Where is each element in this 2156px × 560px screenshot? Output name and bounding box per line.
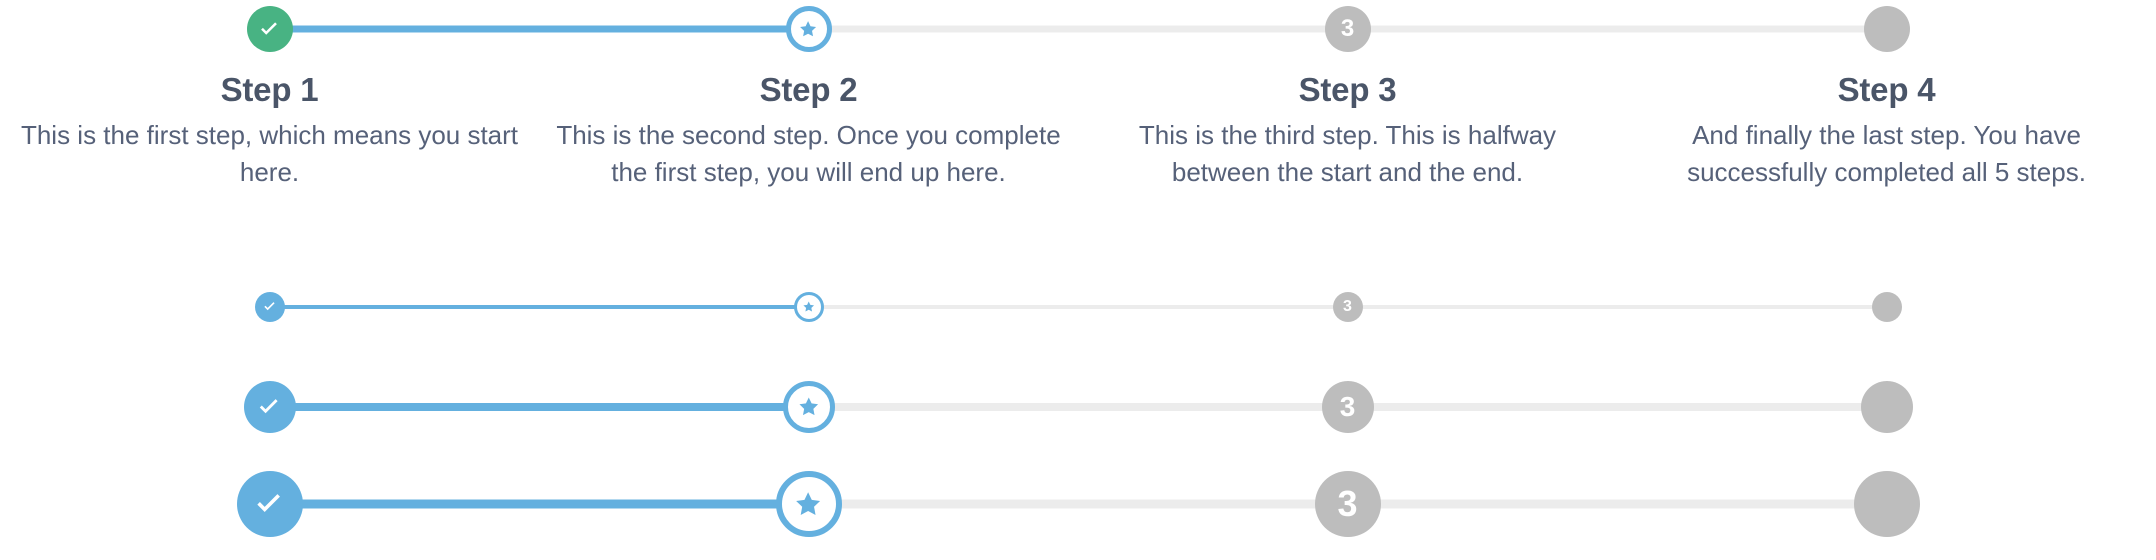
connector-right: [270, 305, 540, 309]
step-2[interactable]: Step 2 This is the second step. Once you…: [539, 0, 1078, 191]
labelled-stepper: Step 1 This is the first step, which mea…: [0, 0, 2156, 191]
step-3-marker-row: 3: [1078, 290, 1617, 324]
step-3-title: Step 3: [1092, 71, 1603, 109]
connector-right: [1887, 500, 2156, 509]
step-2-description: This is the second step. Once you comple…: [553, 117, 1064, 191]
connector-right: [1348, 403, 1618, 411]
check-icon[interactable]: [255, 292, 285, 322]
connector-right: [270, 26, 540, 33]
step-3[interactable]: 3: [1078, 378, 1617, 436]
step-2[interactable]: [539, 290, 1078, 324]
step-1[interactable]: [0, 290, 539, 324]
step-3-number: 3: [1340, 393, 1356, 421]
connector-right: [809, 403, 1079, 411]
empty-circle-icon[interactable]: [1864, 6, 1910, 52]
empty-circle-icon[interactable]: [1861, 381, 1913, 433]
step-4[interactable]: [1617, 468, 2156, 540]
star-icon[interactable]: [783, 381, 835, 433]
connector-right: [809, 305, 1079, 309]
step-2-labels: Step 2 This is the second step. Once you…: [539, 58, 1078, 191]
connector-right: [1887, 403, 2156, 411]
step-4-marker-row: [1617, 468, 2156, 540]
star-icon[interactable]: [794, 292, 824, 322]
step-3[interactable]: 3 Step 3 This is the third step. This is…: [1078, 0, 1617, 191]
empty-circle-icon[interactable]: [1872, 292, 1902, 322]
connector-right: [1348, 500, 1618, 509]
small-stepper: 3: [0, 290, 2156, 324]
check-icon[interactable]: [244, 381, 296, 433]
star-icon[interactable]: [786, 6, 832, 52]
connector-left: [1078, 26, 1348, 33]
step-4[interactable]: Step 4 And finally the last step. You ha…: [1617, 0, 2156, 191]
connector-left: [1617, 403, 1887, 411]
step-1-marker-row: [0, 0, 539, 58]
step-1[interactable]: [0, 468, 539, 540]
step-3-description: This is the third step. This is halfway …: [1092, 117, 1603, 191]
connector-right: [809, 500, 1079, 509]
step-1-marker-row: [0, 378, 539, 436]
step-1[interactable]: [0, 378, 539, 436]
step-2-marker-row: [539, 0, 1078, 58]
step-4-marker-row: [1617, 290, 2156, 324]
connector-left: [0, 500, 270, 509]
step-3-labels: Step 3 This is the third step. This is h…: [1078, 58, 1617, 191]
step-3[interactable]: 3: [1078, 290, 1617, 324]
step-3-number: 3: [1341, 17, 1354, 41]
connector-right: [1887, 305, 2156, 309]
connector-right: [1887, 26, 2156, 33]
number-icon[interactable]: 3: [1325, 6, 1371, 52]
step-4-title: Step 4: [1631, 71, 2142, 109]
step-2[interactable]: [539, 378, 1078, 436]
connector-left: [539, 500, 809, 509]
step-3[interactable]: 3: [1078, 468, 1617, 540]
empty-circle-icon[interactable]: [1854, 471, 1920, 537]
number-icon[interactable]: 3: [1315, 471, 1381, 537]
step-3-number: 3: [1343, 299, 1352, 315]
connector-right: [1348, 305, 1618, 309]
step-1[interactable]: Step 1 This is the first step, which mea…: [0, 0, 539, 191]
connector-left: [1078, 305, 1348, 309]
step-4-marker-row: [1617, 378, 2156, 436]
step-1-title: Step 1: [14, 71, 525, 109]
connector-right: [809, 26, 1079, 33]
connector-left: [0, 403, 270, 411]
connector-left: [1078, 500, 1348, 509]
check-icon[interactable]: [247, 6, 293, 52]
step-4[interactable]: [1617, 290, 2156, 324]
step-1-marker-row: [0, 290, 539, 324]
connector-left: [539, 26, 809, 33]
connector-left: [539, 403, 809, 411]
step-4[interactable]: [1617, 378, 2156, 436]
star-icon[interactable]: [776, 471, 842, 537]
connector-left: [539, 305, 809, 309]
step-3-marker-row: 3: [1078, 378, 1617, 436]
connector-right: [270, 500, 540, 509]
step-3-marker-row: 3: [1078, 0, 1617, 58]
medium-stepper: 3: [0, 378, 2156, 436]
number-icon[interactable]: 3: [1322, 381, 1374, 433]
step-3-number: 3: [1337, 486, 1357, 522]
stepper-demo-page: Step 1 This is the first step, which mea…: [0, 0, 2156, 560]
connector-left: [1078, 403, 1348, 411]
connector-left: [0, 305, 270, 309]
connector-left: [1617, 305, 1887, 309]
step-1-description: This is the first step, which means you …: [14, 117, 525, 191]
connector-right: [270, 403, 540, 411]
step-1-labels: Step 1 This is the first step, which mea…: [0, 58, 539, 191]
step-2-title: Step 2: [553, 71, 1064, 109]
step-2[interactable]: [539, 468, 1078, 540]
step-4-marker-row: [1617, 0, 2156, 58]
step-2-marker-row: [539, 468, 1078, 540]
step-1-marker-row: [0, 468, 539, 540]
connector-left: [1617, 26, 1887, 33]
step-4-description: And finally the last step. You have succ…: [1631, 117, 2142, 191]
step-4-labels: Step 4 And finally the last step. You ha…: [1617, 58, 2156, 191]
number-icon[interactable]: 3: [1333, 292, 1363, 322]
connector-left: [1617, 500, 1887, 509]
step-2-marker-row: [539, 290, 1078, 324]
step-2-marker-row: [539, 378, 1078, 436]
check-icon[interactable]: [237, 471, 303, 537]
step-3-marker-row: 3: [1078, 468, 1617, 540]
large-stepper: 3: [0, 468, 2156, 540]
connector-left: [0, 26, 270, 33]
connector-right: [1348, 26, 1618, 33]
